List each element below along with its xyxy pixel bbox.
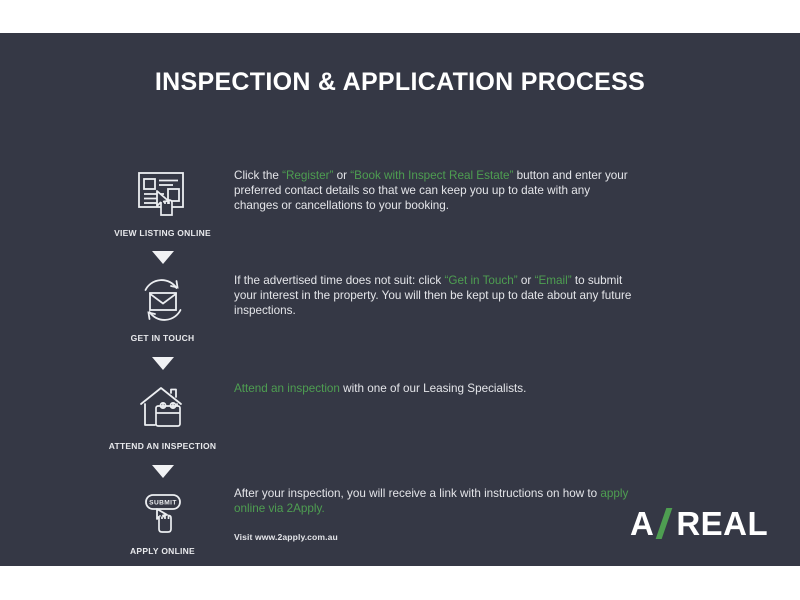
step-1-body: Click the “Register” or “Book with Inspe… — [234, 168, 634, 214]
logo-word-real: REAL — [676, 507, 768, 540]
logo-letter-a: A — [630, 507, 654, 540]
accent-text-run: Attend an inspection — [234, 382, 340, 395]
step-3-body: Attend an inspection with one of our Lea… — [234, 381, 634, 396]
step-1-label: VIEW LISTING ONLINE — [95, 228, 230, 238]
listing-page-cursor-icon — [95, 168, 230, 222]
text-run: or — [518, 274, 535, 287]
step-4-footnote: Visit www.2apply.com.au — [234, 530, 634, 545]
page-title: INSPECTION & APPLICATION PROCESS — [0, 68, 800, 97]
accent-text-run: “Email” — [535, 274, 572, 287]
brand-logo: A REAL — [630, 505, 768, 541]
svg-text:SUBMIT: SUBMIT — [149, 500, 177, 507]
step-2-body: If the advertised time does not suit: cl… — [234, 273, 634, 319]
text-run: or — [333, 169, 350, 182]
house-clipboard-icon — [95, 381, 230, 435]
text-run: with one of our Leasing Specialists. — [340, 382, 526, 395]
accent-text-run: “Get in Touch” — [444, 274, 517, 287]
accent-text-run: “Register” — [282, 169, 333, 182]
arrow-down-icon-1 — [152, 251, 174, 264]
arrow-down-icon-2 — [152, 357, 174, 370]
arrow-down-icon-3 — [152, 465, 174, 478]
text-run: After your inspection, you will receive … — [234, 487, 600, 500]
logo-slash-icon — [654, 507, 676, 540]
step-4-body: After your inspection, you will receive … — [234, 486, 634, 546]
step-3-label: ATTEND AN INSPECTION — [95, 441, 230, 451]
text-run: If the advertised time does not suit: cl… — [234, 274, 444, 287]
step-4-paragraph: After your inspection, you will receive … — [234, 486, 634, 516]
step-3-icon-column: ATTEND AN INSPECTION — [95, 381, 230, 451]
accent-text-run: “Book with Inspect Real Estate” — [350, 169, 513, 182]
step-2-icon-column: GET IN TOUCH — [95, 273, 230, 343]
step-4-icon-column: SUBMIT APPLY ONLINE — [95, 486, 230, 556]
text-run: Click the — [234, 169, 282, 182]
envelope-cycle-icon — [95, 273, 230, 327]
submit-button-cursor-icon: SUBMIT — [95, 486, 230, 540]
step-1-icon-column: VIEW LISTING ONLINE — [95, 168, 230, 238]
step-4-label: APPLY ONLINE — [95, 546, 230, 556]
step-2-label: GET IN TOUCH — [95, 333, 230, 343]
slide-canvas: INSPECTION & APPLICATION PROCESS — [0, 33, 800, 566]
